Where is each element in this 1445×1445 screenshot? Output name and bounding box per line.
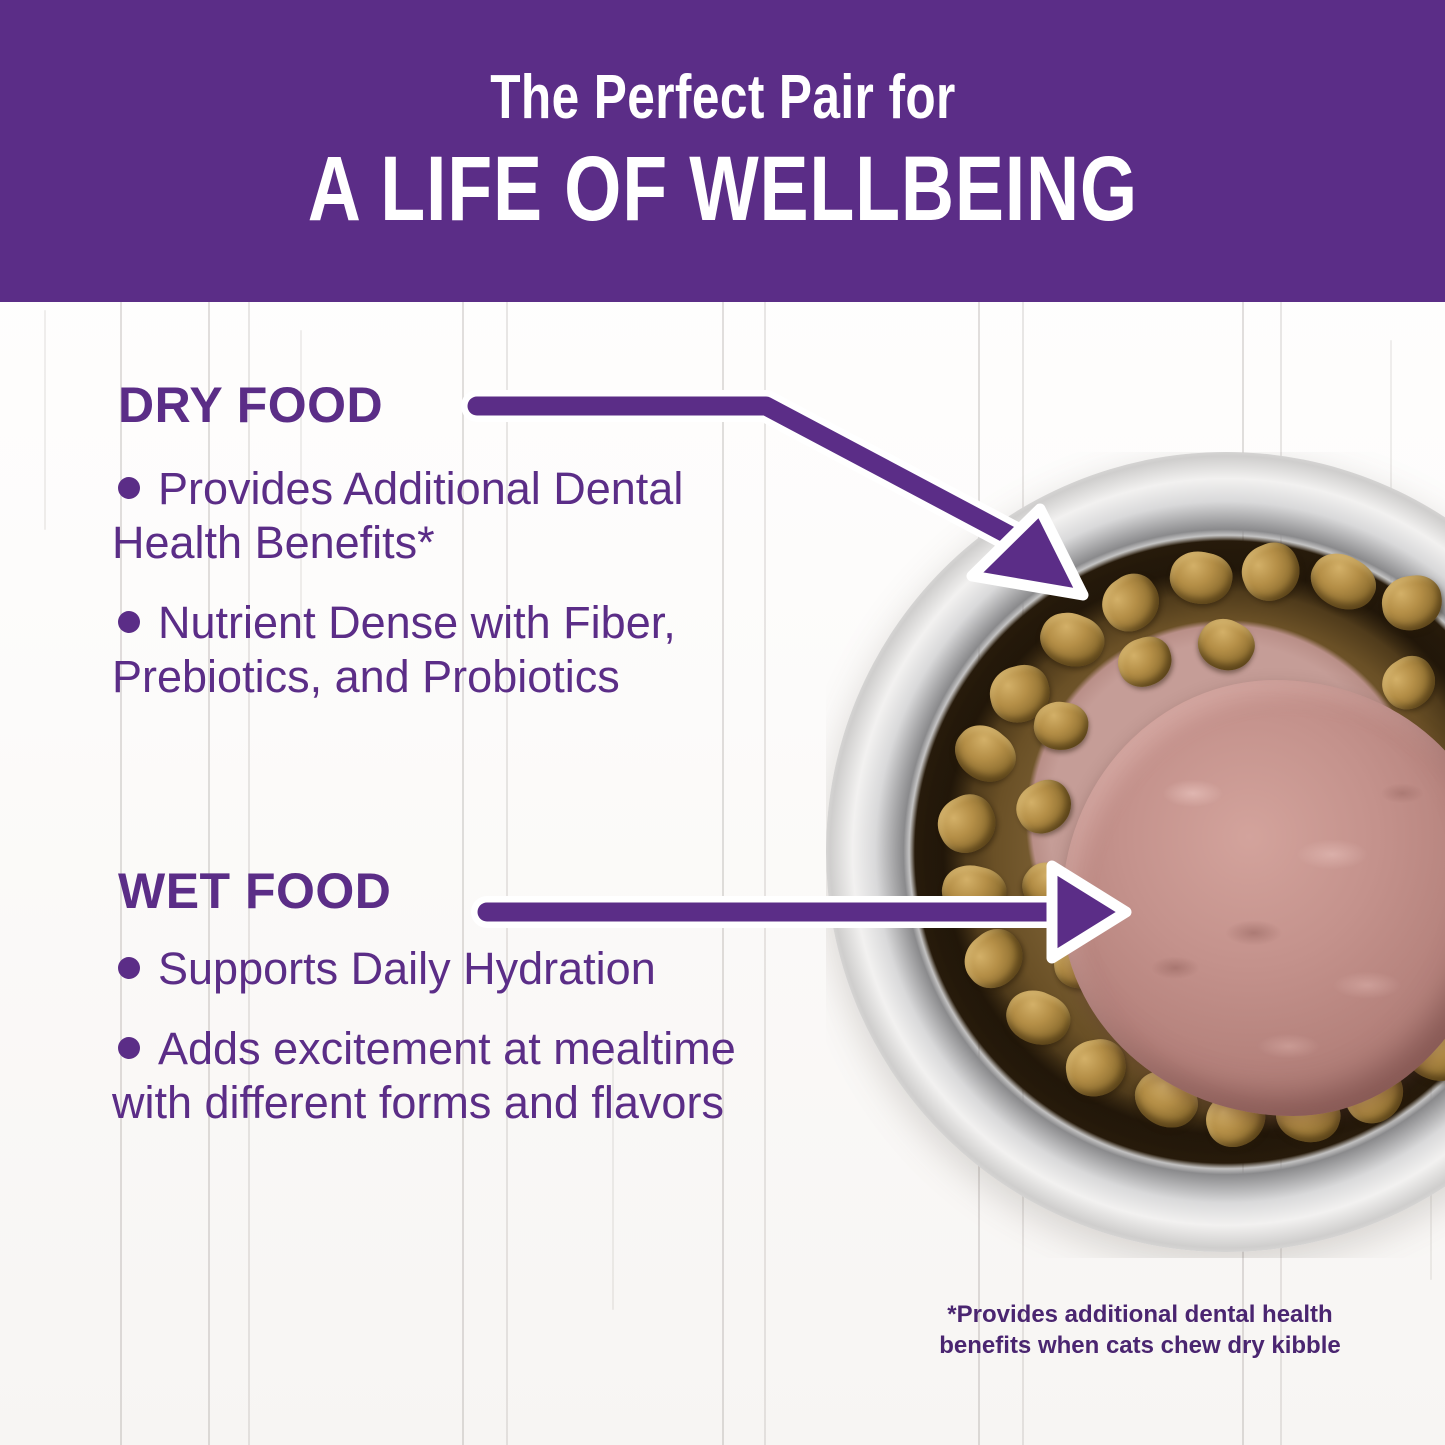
- bullet-dot-icon: [118, 1037, 140, 1059]
- footnote-text: *Provides additional dental health benef…: [930, 1300, 1350, 1361]
- section-heading-wet-food: WET FOOD: [118, 866, 391, 916]
- list-item: Adds excitement at mealtime with differe…: [112, 1022, 812, 1130]
- bullet-dot-icon: [118, 957, 140, 979]
- bullet-dot-icon: [118, 611, 140, 633]
- bullet-list-wet-food: Supports Daily Hydration Adds excitement…: [112, 942, 812, 1156]
- bullet-list-dry-food: Provides Additional Dental Health Benefi…: [112, 462, 812, 730]
- list-item-text: Adds excitement at mealtime with differe…: [112, 1023, 736, 1128]
- list-item-text: Supports Daily Hydration: [158, 943, 656, 994]
- list-item-text: Nutrient Dense with Fiber, Prebiotics, a…: [112, 597, 676, 702]
- list-item: Provides Additional Dental Health Benefi…: [112, 462, 812, 570]
- section-heading-dry-food: DRY FOOD: [118, 380, 383, 430]
- product-benefits-poster: The Perfect Pair for A LIFE OF WELLBEING: [0, 0, 1445, 1445]
- list-item: Supports Daily Hydration: [112, 942, 812, 996]
- bullet-dot-icon: [118, 477, 140, 499]
- list-item: Nutrient Dense with Fiber, Prebiotics, a…: [112, 596, 812, 704]
- list-item-text: Provides Additional Dental Health Benefi…: [112, 463, 683, 568]
- benefits-copy: DRY FOOD Provides Additional Dental Heal…: [0, 0, 826, 1445]
- cat-food-bowl-photo: [826, 452, 1445, 1258]
